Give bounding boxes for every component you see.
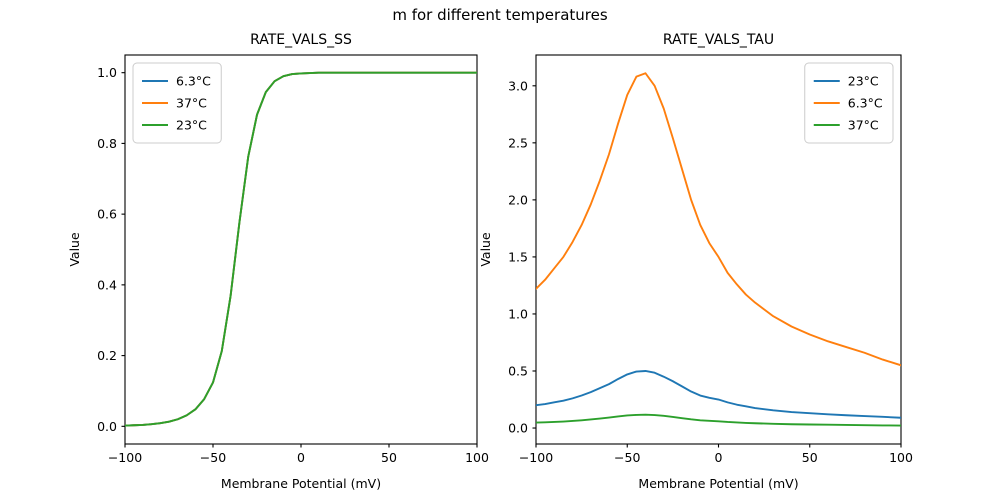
x-tick-label: 0 [715, 450, 723, 465]
y-tick-label: 1.0 [508, 306, 528, 321]
y-tick-label: 0.6 [97, 207, 117, 222]
subplot-title: RATE_VALS_SS [250, 32, 352, 48]
y-tick-label: 3.0 [508, 78, 528, 93]
y-axis-label: Value [67, 232, 82, 267]
legend-label: 37°C [176, 96, 207, 111]
x-tick-label: 50 [381, 450, 397, 465]
x-tick-label: −100 [519, 450, 553, 465]
x-tick-label: −50 [614, 450, 640, 465]
legend-label: 6.3°C [176, 74, 211, 89]
y-tick-label: 0.8 [97, 136, 117, 151]
y-tick-label: 2.5 [508, 135, 528, 150]
y-axis-label: Value [478, 232, 493, 267]
figure-canvas: m for different temperatures −100−500501… [0, 0, 1000, 500]
y-tick-label: 0.0 [97, 419, 117, 434]
legend-label: 23°C [176, 118, 207, 133]
legend-label: 23°C [848, 74, 879, 89]
subplot-title: RATE_VALS_TAU [663, 32, 774, 48]
matplotlib-figure: m for different temperatures −100−500501… [0, 0, 1000, 500]
x-tick-label: 100 [465, 450, 489, 465]
y-tick-label: 2.0 [508, 192, 528, 207]
legend: 6.3°C37°C23°C [133, 63, 221, 143]
y-tick-label: 0.0 [508, 421, 528, 436]
x-tick-label: 0 [297, 450, 305, 465]
x-axis-label: Membrane Potential (mV) [221, 476, 381, 491]
x-tick-label: −50 [200, 450, 226, 465]
figure-suptitle: m for different temperatures [392, 6, 608, 24]
y-tick-label: 1.5 [508, 249, 528, 264]
legend-label: 37°C [848, 118, 879, 133]
legend: 23°C6.3°C37°C [805, 63, 893, 143]
y-tick-label: 1.0 [97, 65, 117, 80]
legend-label: 6.3°C [848, 96, 883, 111]
y-tick-label: 0.4 [97, 277, 117, 292]
x-tick-label: 100 [889, 450, 913, 465]
x-tick-label: 50 [802, 450, 818, 465]
x-axis-label: Membrane Potential (mV) [638, 476, 798, 491]
x-tick-label: −100 [108, 450, 142, 465]
y-tick-label: 0.5 [508, 363, 528, 378]
y-tick-label: 0.2 [97, 348, 117, 363]
